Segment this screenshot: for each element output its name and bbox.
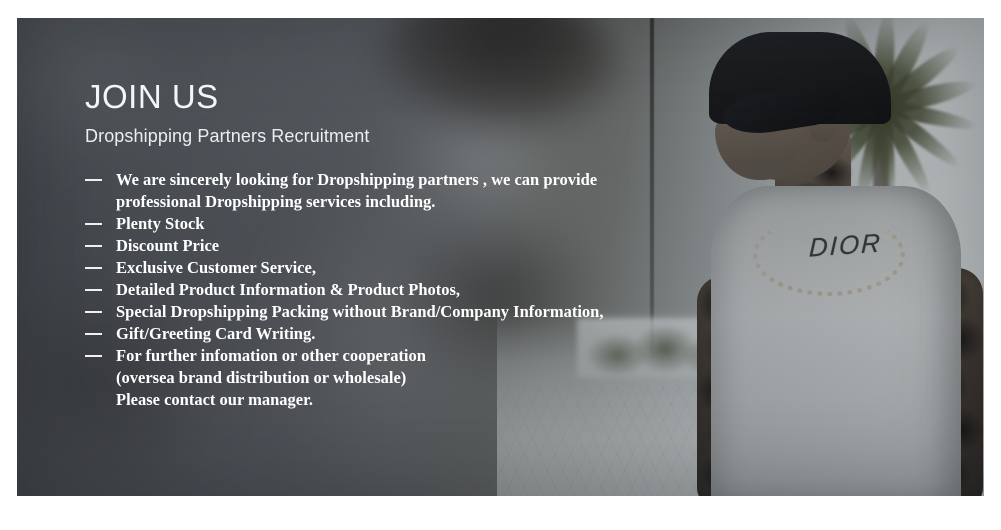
benefit-item: Special Dropshipping Packing without Bra…: [85, 301, 984, 323]
join-us-banner: DIOR JOIN US Dropshipping Partners Recru…: [17, 18, 984, 496]
benefit-item: We are sincerely looking for Dropshippin…: [85, 169, 984, 213]
page-root: DIOR JOIN US Dropshipping Partners Recru…: [0, 0, 1001, 530]
benefit-item: Discount Price: [85, 235, 984, 257]
benefits-list: We are sincerely looking for Dropshippin…: [85, 169, 984, 411]
benefit-item: For further infomation or other cooperat…: [85, 345, 984, 411]
benefit-item: Gift/Greeting Card Writing.: [85, 323, 984, 345]
benefit-item: Detailed Product Information & Product P…: [85, 279, 984, 301]
benefit-item: Exclusive Customer Service,: [85, 257, 984, 279]
benefit-item: Plenty Stock: [85, 213, 984, 235]
banner-subtitle: Dropshipping Partners Recruitment: [85, 126, 984, 147]
banner-copy: JOIN US Dropshipping Partners Recruitmen…: [17, 18, 984, 496]
banner-title: JOIN US: [85, 80, 984, 113]
